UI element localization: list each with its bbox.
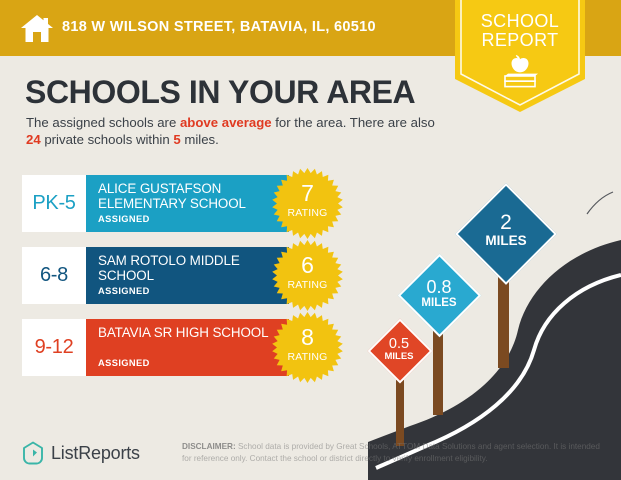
grade-box: 6-8 (22, 247, 86, 304)
rating-word: RATING (272, 351, 343, 363)
sign-post (396, 380, 404, 446)
disclaimer-text: DISCLAIMER: School data is provided by G… (182, 441, 602, 464)
badge-title: SCHOOL REPORT (455, 12, 585, 50)
school-row[interactable]: 9-12 BATAVIA SR HIGH SCHOOL ASSIGNED 8 R… (22, 319, 352, 376)
sign-distance: 0.5 (369, 337, 429, 352)
infographic-page: 818 W WILSON STREET, BATAVIA, IL, 60510 … (0, 0, 621, 480)
rating-burst: 6 RATING (272, 240, 343, 311)
subtitle-highlight-private-count: 24 (26, 132, 41, 147)
listreports-logo[interactable]: ListReports (22, 440, 140, 466)
page-title: SCHOOLS IN YOUR AREA (25, 74, 415, 111)
school-name-bar: ALICE GUSTAFSON ELEMENTARY SCHOOL ASSIGN… (86, 175, 289, 232)
rating-value: 6 (272, 254, 343, 277)
sign-unit: MILES (369, 352, 429, 362)
page-subtitle: The assigned schools are above average f… (26, 114, 446, 148)
sign-distance: 2 (464, 212, 548, 234)
sign-distance: 0.8 (404, 278, 474, 297)
subtitle-highlight-radius: 5 (173, 132, 180, 147)
grade-label: PK-5 (32, 192, 75, 215)
badge-title-line2: REPORT (455, 31, 585, 50)
school-row[interactable]: PK-5 ALICE GUSTAFSON ELEMENTARY SCHOOL A… (22, 175, 352, 232)
grade-label: 9-12 (35, 336, 74, 359)
sign-label: 0.8 MILES (404, 278, 474, 309)
school-name-bar: SAM ROTOLO MIDDLE SCHOOL ASSIGNED (86, 247, 289, 304)
grade-box: PK-5 (22, 175, 86, 232)
disclaimer-prefix: DISCLAIMER: (182, 442, 236, 451)
house-pin-icon (22, 441, 44, 465)
school-name: ALICE GUSTAFSON ELEMENTARY SCHOOL (98, 182, 284, 211)
mileage-sign: 0.5 MILES (358, 306, 448, 446)
rating-word: RATING (272, 207, 343, 219)
school-name: SAM ROTOLO MIDDLE SCHOOL (98, 254, 284, 283)
assigned-badge: ASSIGNED (98, 214, 150, 224)
subtitle-text-3: private schools within (41, 132, 174, 147)
grade-label: 6-8 (40, 264, 68, 287)
school-row[interactable]: 6-8 SAM ROTOLO MIDDLE SCHOOL ASSIGNED 6 … (22, 247, 352, 304)
rating-word: RATING (272, 279, 343, 291)
school-name: BATAVIA SR HIGH SCHOOL (98, 326, 284, 341)
school-report-badge: SCHOOL REPORT (455, 0, 585, 112)
rating-burst: 8 RATING (272, 312, 343, 383)
home-icon (20, 11, 54, 45)
subtitle-text-1: The assigned schools are (26, 115, 180, 130)
book-icon (505, 74, 538, 87)
badge-title-line1: SCHOOL (455, 12, 585, 31)
assigned-badge: ASSIGNED (98, 286, 150, 296)
grade-box: 9-12 (22, 319, 86, 376)
address-text: 818 W WILSON STREET, BATAVIA, IL, 60510 (62, 19, 376, 35)
rating-value: 7 (272, 182, 343, 205)
apple-book-emblem (498, 54, 542, 92)
disclaimer-body: School data is provided by Great Schools… (182, 442, 600, 463)
school-name-bar: BATAVIA SR HIGH SCHOOL ASSIGNED (86, 319, 289, 376)
sign-label: 0.5 MILES (369, 337, 429, 362)
road-wire (587, 192, 613, 214)
subtitle-highlight-above-average: above average (180, 115, 272, 130)
subtitle-text-4: miles. (181, 132, 219, 147)
rating-burst: 7 RATING (272, 168, 343, 239)
assigned-badge: ASSIGNED (98, 358, 150, 368)
apple-icon (512, 55, 529, 72)
rating-value: 8 (272, 326, 343, 349)
logo-text: ListReports (51, 443, 140, 464)
subtitle-text-2: for the area. There are also (272, 115, 435, 130)
sign-post (498, 270, 509, 368)
road-illustration: 2 MILES 0.8 MILES 0.5 MILES (368, 180, 621, 480)
